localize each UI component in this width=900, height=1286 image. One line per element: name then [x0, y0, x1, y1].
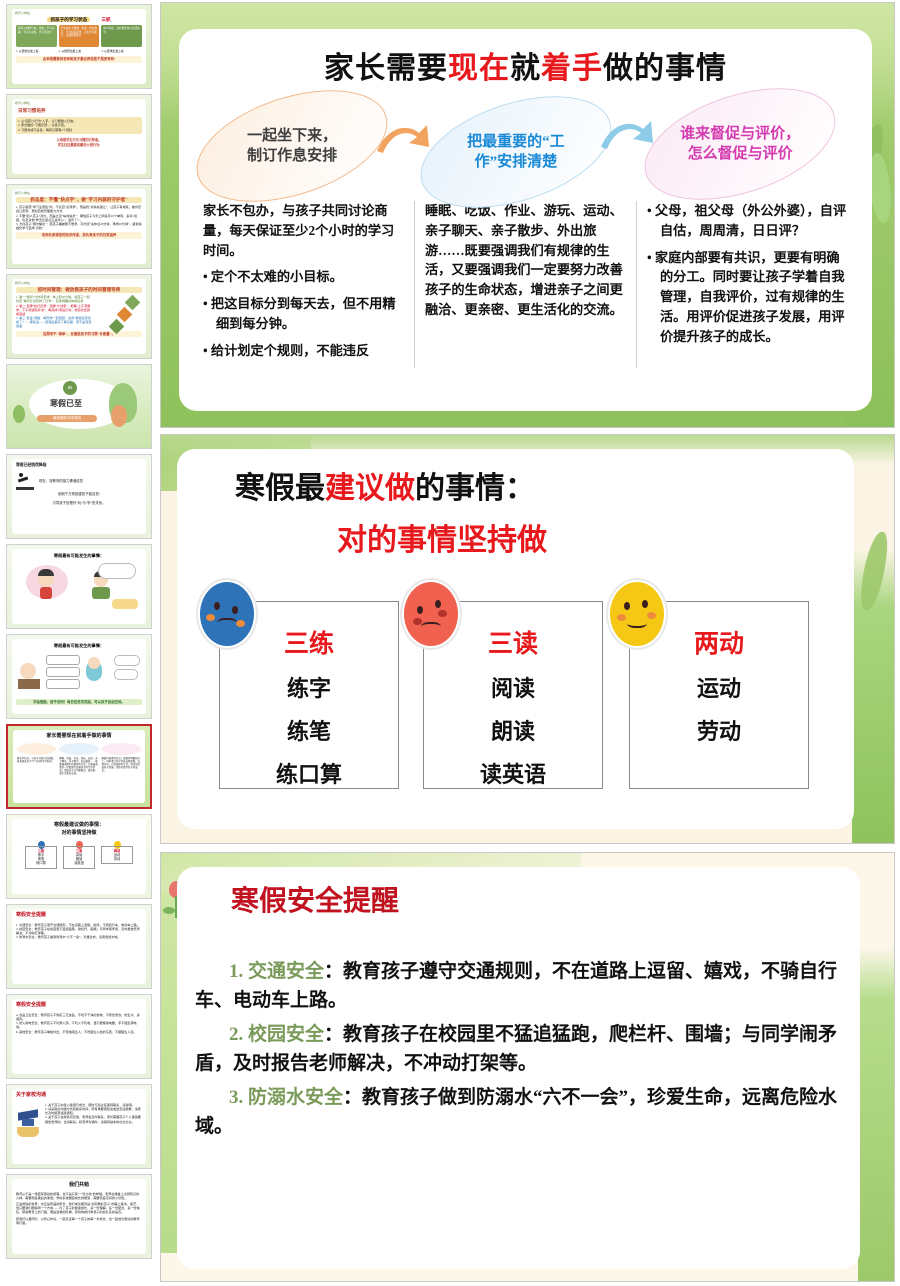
- slide-1[interactable]: 家长需要现在就着手做的事情 一起坐下来，制订作息安排 把最重要的“工作”安排清楚: [160, 2, 895, 428]
- thumb-item: 3. 防溺水安全：教育孩子做到防溺水"六不一会"，珍爱生命，远离危险水域。: [16, 935, 142, 939]
- group-box-1: 三练 练字 练笔 练口算: [219, 601, 399, 789]
- slide-3-card: 寒假安全提醒 1. 交通安全：教育孩子遵守交通规则，不在道路上逗留、嬉戏，不骑自…: [177, 867, 860, 1269]
- thumb-card-row: 抓孩子的精气神、状态、学习兴趣、学习主动性、学习专注力 学生在家上网课、补课、作…: [16, 25, 142, 47]
- thumb-bullet: 1. 孩子抱怨"学习注意集"时，不反应"必须学"，而是找"共情先退让"：让孩子有…: [16, 205, 142, 213]
- slide-thumbnail-13[interactable]: 关于家校沟通 1. 关于孩子的身心健康与成长，随时与班主任保持联系，请说明。 2…: [6, 1084, 152, 1169]
- bubble-1-label: 一起坐下来，制订作息安排: [247, 127, 337, 166]
- thumb-logo: 教育小神仙: [15, 191, 30, 195]
- thumb-col-text: 家庭内部要有共识，更要有明确的分工。同时要让孩子学着自我管理，自我评价，过有规律…: [102, 757, 141, 775]
- slide-thumbnail-7[interactable]: 寒假最有可能发生的事情：: [6, 544, 152, 629]
- group-box-2: 三读 阅读 朗读 读英语: [423, 601, 603, 789]
- thumb-line: 现在，将教育的接力棒递给您: [39, 479, 83, 484]
- thumb-bullet: 3. 允许孩子"偶尔懈怠"：若孩子确被累不想学，可约定"先休息20分钟，再学20…: [16, 222, 142, 230]
- steps-diagram: [94, 295, 142, 328]
- safety-item-2: 2. 校园安全：教育孩子在校园里不猛追猛跑，爬栏杆、围墙；与同学闹矛盾，及时报告…: [195, 1020, 842, 1079]
- slide-thumbnail-6[interactable]: 寒假已经悄然降临 现在，将教育的接力棒递给您 倒刻千万别指望孩子能自觉! 引导孩…: [6, 454, 152, 539]
- slide-thumbnail-3[interactable]: 教育小神仙 抓态度：不懂"快点学"，做"学习内驱的守护者" 1. 孩子抱怨"学习…: [6, 184, 152, 269]
- thumb-title: 寒假安全提醒: [16, 1003, 142, 1010]
- group-2-item: 读英语: [424, 757, 602, 789]
- thumb-title: 寒假安全提醒: [16, 913, 142, 920]
- thumb-item: 6. 其他安全：教育孩子单独外出、不轻信陌生人、不吃陌生人给的东西、不跟陌生人走…: [16, 1030, 142, 1034]
- slide-2-leaf-decoration: [852, 435, 894, 843]
- col1-bullet: 把这目标分到每天去，但不用精细到每分钟。: [203, 294, 404, 334]
- thumb-col-text: 家长不包办，与孩子共同讨论商量，每天保证至少2个小时的学习时间。: [17, 757, 56, 775]
- arrow-right-icon: [375, 121, 431, 159]
- slide-1-columns: 家长不包办，与孩子共同讨论商量，每天保证至少2个小时的学习时间。 定个不太难的小…: [193, 201, 858, 368]
- thumb-logo: 教育小神仙: [15, 11, 30, 15]
- thumb-cover-title: 寒假已至: [31, 399, 101, 410]
- slide-thumbnail-11[interactable]: 寒假安全提醒 1. 交通安全：教育孩子遵守交通规则，不在道路上逗留、嬉戏，不骑自…: [6, 904, 152, 989]
- slide-thumbnail-9[interactable]: 家长需要现在就着手做的事情 家长不包办，与孩子共同讨论商量，每天保证至少2个小时…: [6, 724, 152, 809]
- slide-1-column-3: 父母，祖父母（外公外婆），自评自估，周周清，日日评？ 家庭内部要有共识，更要有明…: [636, 201, 858, 368]
- thumb-cover-number: 05: [63, 381, 77, 395]
- thumb-col-text: 睡眠、吃饭、作业、游玩、运动、亲子聊天、亲子散步、外出旅游……既要强调我们有规律…: [59, 757, 98, 775]
- thumb-subtitle: 对的事情坚持做: [16, 831, 142, 838]
- slide-3[interactable]: 寒假安全提醒 1. 交通安全：教育孩子遵守交通规则，不在道路上逗留、嬉戏，不骑自…: [160, 852, 895, 1282]
- group-1-item: 练笔: [220, 714, 398, 746]
- thumb-footer: 父母是学生行为习惯的引导者。: [16, 138, 142, 142]
- safety-item-3: 3. 防溺水安全：教育孩子做到防溺水“六不一会”，珍爱生命，远离危险水域。: [195, 1083, 842, 1142]
- thumb-step: 3. 第三"复盘"调整：每周末一起回顾：这周"哪些任务完成了？"，哪些没——把落…: [16, 316, 92, 329]
- slide-1-column-2: 睡眠、吃饭、作业、游玩、运动、亲子聊天、亲子散步、外出旅游……既要强调我们有规律…: [414, 201, 636, 368]
- thumb-card: 抓孩子的精气神、状态、学习兴趣、学习主动性、学习专注力: [16, 25, 57, 47]
- col2-lead: 睡眠、吃饭、作业、游玩、运动、亲子聊天、亲子散步、外出旅游……既要强调我们有规律…: [425, 201, 626, 320]
- thumb-illustration: [16, 651, 142, 697]
- group-2-item: 阅读: [424, 671, 602, 703]
- graduation-cap-icon: [16, 1103, 42, 1124]
- thumb-banner: 这周末不"清单"，反面给孩子的习惯"补能量"。: [16, 331, 142, 338]
- thumb-footer: 学生往往最喜欢模仿父母行为!: [16, 143, 142, 147]
- item-2-label: 校园安全: [248, 1024, 324, 1045]
- bubble-2-label: 把最重要的“工作”安排清楚: [467, 133, 565, 172]
- slide-1-bubble-row: 一起坐下来，制订作息安排 把最重要的“工作”安排清楚 谁来督促与评价，怎么督促与…: [179, 93, 872, 191]
- slide-thumbnail-8[interactable]: 寒假最有可能发生的事情： 学会鼓励，给予空间！每日任务完成后，可以孩子自由空间。: [6, 634, 152, 719]
- slide-thumbnail-sidebar[interactable]: 教育小神仙 抓孩子的学习状态 三抓 抓孩子的精气神、状态、学习兴趣、学习主动性、…: [0, 0, 158, 1286]
- group-3-item: 劳动: [630, 714, 808, 746]
- thumb-title: 我们共勉: [16, 1183, 142, 1190]
- thumb-title: 抓时间管理：做放假孩子的时间管理导师: [16, 287, 142, 293]
- col1-lead: 家长不包办，与孩子共同讨论商量，每天保证至少2个小时的学习时间。: [203, 201, 404, 260]
- slide-1-card: 家长需要现在就着手做的事情 一起坐下来，制订作息安排 把最重要的“工作”安排清楚: [179, 29, 872, 411]
- thumb-card: 学生在家上网课、补课、作业情况、学习时间安排、自主学习能力、自我管理能力: [59, 25, 100, 47]
- slide-2[interactable]: 寒假最建议做的事情： 对的事情坚持做 三练 练字: [160, 434, 895, 844]
- thumb-paragraph: 愿我们以爱同行、以智心作舟，一起见证每一个孩子的每一步成长，也一起成为更好的教育…: [16, 1217, 142, 1225]
- col1-bullet: 给计划定个规则，不能违反: [203, 341, 404, 361]
- thumb-step: 2. 第二"自律"执行记录：用课"计划表"，把每"上午写数学，下午阅读和背书"，…: [16, 304, 92, 317]
- group-1-item: 练字: [220, 671, 398, 703]
- item-2-number: 2.: [229, 1024, 243, 1045]
- item-3-label: 防溺水安全: [248, 1087, 343, 1108]
- thumb-title: 寒假最建议做的事情：: [16, 823, 142, 830]
- thumb-cover-subtitle: 愉快假期 科学规划: [37, 415, 97, 422]
- slide-2-group-row: 三练 练字 练笔 练口算 三读: [177, 583, 854, 793]
- thumb-title: 抓态度：不懂"快点学"，做"学习内驱的守护者": [16, 197, 142, 203]
- thumb-item: 3. 关于孩子在校情况反馈，老师会及时联系，家长需要孩子个人事情要报告老师的，也…: [45, 1115, 142, 1123]
- col3-bullet: 家庭内部要有共识，更要有明确的分工。同时要让孩子学着自我管理，自我评价，过有规律…: [647, 248, 848, 347]
- slide-thumbnail-12[interactable]: 寒假安全提醒 4. 食品卫生安全：教育孩子不购买三无食品、不吃不干净的食物、不暴…: [6, 994, 152, 1079]
- slide-2-title-line2: 对的事情坚持做: [337, 515, 854, 559]
- slide-thumbnail-14[interactable]: 我们共勉 教育从不是一场孤军奋战的旅程，也不是只有"一管之地"的样貌。老师在课堂…: [6, 1174, 152, 1259]
- slide-preview-column: 家长需要现在就着手做的事情 一起坐下来，制订作息安排 把最重要的“工作”安排清楚: [158, 0, 900, 1286]
- thumb-line: 引导孩子处理好"玩"与"学"的关系。: [16, 501, 142, 506]
- thumb-paragraph: 正是觉得的世界，也正是家庭的家长，我们或许都曾是"如何教好孩子"的路上焦虑、迷茫…: [16, 1202, 142, 1215]
- thumb-card: 抓乡客观、及时督查评价反馈指导: [101, 25, 142, 47]
- slide-1-column-1: 家长不包办，与孩子共同讨论商量，每天保证至少2个小时的学习时间。 定个不太难的小…: [193, 201, 414, 368]
- item-1-label: 交通安全: [248, 961, 324, 982]
- thumb-title: 寒假已经悄然降临: [16, 463, 142, 468]
- thumb-title: 日常习惯培养: [18, 108, 142, 114]
- face-icon-blue: [198, 580, 256, 648]
- thumb-title: 寒假最有可能发生的事情：: [16, 553, 142, 559]
- slide-2-card: 寒假最建议做的事情： 对的事情坚持做 三练 练字: [177, 449, 854, 829]
- thumb-illustration: [16, 561, 142, 611]
- thumb-title: 抓孩子的学习状态 三抓: [16, 17, 142, 23]
- slide-thumbnail-2[interactable]: 教育小神仙 日常习惯培养 1. 从"固定小行为"入手，让习惯融入日常。 2. 家…: [6, 94, 152, 179]
- thumb-item: 5. 防火用电安全：教育孩子不玩弄火源、不玩火不玩电，温不要擅用电器、手不能乱摸…: [16, 1021, 142, 1029]
- runner-icon: [16, 472, 36, 490]
- item-3-number: 3.: [229, 1087, 243, 1108]
- slide-thumbnail-10[interactable]: 寒假最建议做的事情： 对的事情坚持做 三练 练字 练笔 练口算: [6, 814, 152, 899]
- thumb-step: 1. 第一"规划"分时间安排：体上起30分钟，和孩子一起约定"每周计划安排了日学…: [16, 295, 92, 303]
- col3-bullet: 父母，祖父母（外公外婆），自评自估，周周清，日日评？: [647, 201, 848, 241]
- thumb-paragraph: 教育从不是一场孤军奋战的旅程，也不是只有"一管之地"的样貌。老师在课堂上点燃知识…: [16, 1192, 142, 1200]
- group-1-item: 练口算: [220, 757, 398, 789]
- thumb-banner: 学会鼓励，给予空间！每日任务完成后，可以孩子自由空间。: [16, 699, 142, 706]
- thumb-logo: 教育小神仙: [15, 281, 30, 285]
- slide-3-leaf-decoration: [858, 853, 894, 1281]
- thumb-logo: 教育小神仙: [15, 101, 30, 105]
- slide-2-title-line1: 寒假最建议做的事情：: [235, 463, 854, 507]
- slide-3-body: 1. 交通安全：教育孩子遵守交通规则，不在道路上逗留、嬉戏，不骑自行车、电动车上…: [195, 957, 842, 1142]
- bubble-3: 谁来督促与评价，怎么督促与评价: [631, 67, 850, 221]
- item-1-number: 1.: [229, 961, 243, 982]
- slide-thumbnail-4[interactable]: 教育小神仙 抓时间管理：做放假孩子的时间管理导师 1. 第一"规划"分时间安排：…: [6, 274, 152, 359]
- safety-item-1: 1. 交通安全：教育孩子遵守交通规则，不在道路上逗留、嬉戏，不骑自行车、电动车上…: [195, 957, 842, 1016]
- presentation-editor: 教育小神仙 抓孩子的学习状态 三抓 抓孩子的精气神、状态、学习兴趣、学习主动性、…: [0, 0, 900, 1286]
- slide-thumbnail-5[interactable]: 05 寒假已至 愉快假期 科学规划: [6, 364, 152, 449]
- slide-1-title: 家长需要现在就着手做的事情: [179, 43, 872, 87]
- arrow-right-icon: [599, 117, 655, 155]
- slide-thumbnail-1[interactable]: 教育小神仙 抓孩子的学习状态 三抓 抓孩子的精气神、状态、学习兴趣、学习主动性、…: [6, 4, 152, 89]
- thumb-title: 家长需要现在就着手做的事情: [17, 734, 141, 741]
- thumb-line: 倒刻千万别指望孩子能自觉!: [16, 492, 142, 497]
- col1-bullet: 定个不太难的小目标。: [203, 267, 404, 287]
- slide-3-title: 寒假安全提醒: [231, 879, 860, 919]
- thumb-title: 关于家校沟通: [16, 1093, 142, 1100]
- group-box-3: 两动 运动 劳动: [629, 601, 809, 789]
- group-2-item: 朗读: [424, 714, 602, 746]
- thumb-title: 寒假最有可能发生的事情：: [16, 643, 142, 649]
- thumb-bullet: 2. 不要"别人孩子"对比，而是立足"纵向进步"：哪怕孩子今天上网多背10个单词…: [16, 214, 142, 222]
- thumb-footer-row: 1. 从要求出发上看 2. 从规则出发上看 3. 从要求出发上看: [16, 50, 142, 54]
- thumb-banner: 此举是需要同老师和孩子最近表现是不是更有效!: [16, 56, 142, 63]
- thumb-banner: 老师负责课堂的知识传递，您负责孩子的日常滋养: [16, 232, 142, 239]
- thumb-bullets: 1. 从"固定小行为"入手，让习惯融入日常。 2. 家长做好"习惯示范"，以身示…: [16, 117, 142, 134]
- group-3-item: 运动: [630, 671, 808, 703]
- bubble-3-label: 谁来督促与评价，怎么督促与评价: [680, 125, 800, 164]
- face-icon-yellow: [608, 580, 666, 648]
- face-icon-red: [402, 580, 460, 648]
